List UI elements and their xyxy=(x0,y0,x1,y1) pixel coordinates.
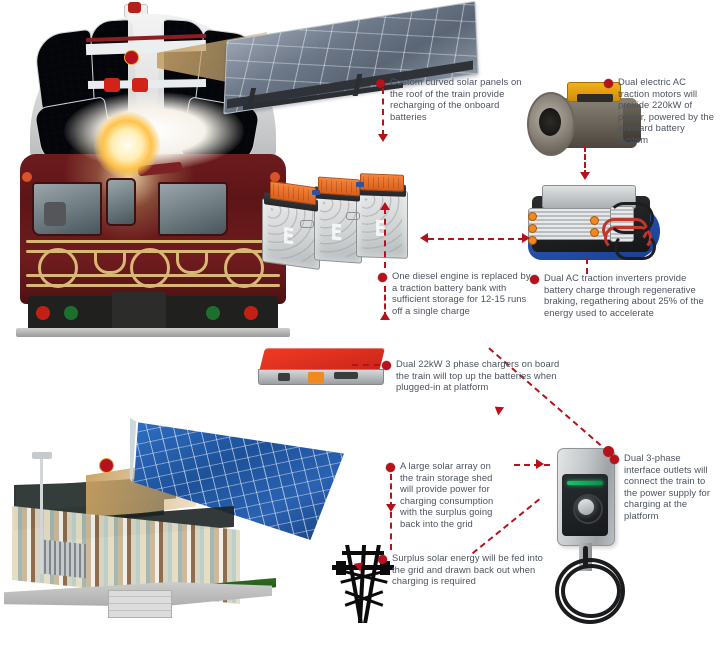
roof-beacon-light xyxy=(128,2,141,13)
infographic-canvas: E E E xyxy=(0,0,720,655)
callout-text: Surplus solar energy will be fed into th… xyxy=(392,552,546,587)
connector-arrow-down xyxy=(580,172,590,180)
buffer-light-red xyxy=(244,306,258,320)
connector-arrow-up xyxy=(380,202,390,210)
battery-connector xyxy=(356,182,364,187)
motor-shaft-bore xyxy=(539,108,561,136)
callout-text: Dual AC traction inverters provide batte… xyxy=(544,272,716,318)
callout-grid-feed: Surplus solar energy will be fed into th… xyxy=(378,552,546,587)
battery-control-unit xyxy=(318,177,360,197)
storage-shed-illustration xyxy=(4,414,334,642)
track-rail xyxy=(16,328,290,337)
driver-silhouette xyxy=(44,202,66,226)
socket-connector xyxy=(578,499,594,515)
callout-bullet xyxy=(376,79,385,88)
roof-marker-light xyxy=(104,78,120,92)
status-led-strip xyxy=(567,481,603,485)
battery-module: E xyxy=(356,189,408,259)
cab-window-right xyxy=(158,182,228,236)
buffer-light-red xyxy=(36,306,50,320)
callout-text: Dual electric AC traction motors will pr… xyxy=(618,76,716,146)
callout-dot-roof-solar[interactable] xyxy=(124,50,139,65)
callout-dot-charging-station[interactable] xyxy=(603,446,614,457)
callout-bullet xyxy=(382,361,391,370)
battery-control-unit xyxy=(360,173,404,192)
callout-bullet xyxy=(386,463,395,472)
battery-connector xyxy=(312,190,320,195)
inverter-terminal xyxy=(590,228,599,237)
charger-port xyxy=(278,373,290,381)
livery-ring xyxy=(38,248,78,288)
charging-cable xyxy=(561,564,621,618)
buffer-light-green xyxy=(64,306,78,320)
platform-base-wall xyxy=(108,590,172,618)
shed-light-pole xyxy=(40,454,43,574)
connector-battery-callout xyxy=(384,208,386,268)
connector-charger-callout xyxy=(352,364,380,366)
inverter-ground-cable xyxy=(608,202,654,234)
callout-bullet xyxy=(530,275,539,284)
callout-text: A large solar array on the train storage… xyxy=(400,460,500,530)
connector-arrow-left xyxy=(420,233,428,243)
callout-bullet xyxy=(378,555,387,564)
charger-port xyxy=(334,372,358,379)
traction-inverter-illustration xyxy=(524,180,664,262)
callout-inverters: Dual AC traction inverters provide batte… xyxy=(530,272,716,318)
roof-marker-light xyxy=(132,78,148,92)
cab-window-left xyxy=(32,182,102,236)
livery-ring xyxy=(224,248,264,288)
inverter-terminal xyxy=(528,224,537,233)
onboard-charger-illustration xyxy=(256,348,384,390)
callout-solar-roof: Custom curved solar panels on the roof o… xyxy=(376,76,522,122)
side-marker-light xyxy=(22,172,32,182)
connector-arrow-right xyxy=(536,459,544,469)
connector-battery-inverter xyxy=(428,238,524,240)
inverter-terminal xyxy=(528,212,537,221)
connector-arrow-down xyxy=(378,134,388,142)
callout-bullet xyxy=(610,455,619,464)
callout-text: One diesel engine is replaced by a tract… xyxy=(392,270,536,316)
connector-arrow-right xyxy=(522,233,530,243)
callout-shed-solar-array: A large solar array on the train storage… xyxy=(386,460,500,530)
callout-battery-bank: One diesel engine is replaced by a tract… xyxy=(378,270,536,316)
livery-motif xyxy=(94,250,126,274)
callout-dot-shed-solar[interactable] xyxy=(99,458,114,473)
inverter-terminal xyxy=(590,216,599,225)
callout-bullet xyxy=(378,273,387,282)
shed-light-head xyxy=(32,452,52,459)
shed-gate xyxy=(44,540,86,578)
buffer-light-green xyxy=(206,306,220,320)
connector-shed-station xyxy=(514,464,550,466)
callout-onboard-chargers: Dual 22kW 3 phase chargers on board the … xyxy=(382,358,560,393)
cable-down-lead xyxy=(583,546,588,568)
battery-module: E xyxy=(314,192,362,263)
battery-handle xyxy=(346,212,360,220)
livery-stripe xyxy=(26,240,280,243)
callout-text: Dual 22kW 3 phase chargers on board the … xyxy=(396,358,560,393)
callout-interface-outlets: Dual 3-phase interface outlets will conn… xyxy=(610,452,714,522)
livery-ring xyxy=(130,248,170,288)
callout-bullet xyxy=(604,79,613,88)
callout-text: Custom curved solar panels on the roof o… xyxy=(390,76,522,122)
livery-motif xyxy=(176,250,208,274)
callout-traction-motors: Dual electric AC traction motors will pr… xyxy=(604,76,716,146)
cab-window-center xyxy=(106,178,136,226)
battery-handle xyxy=(300,220,314,228)
charger-connector xyxy=(308,372,324,383)
connector-arrow-diag xyxy=(492,403,504,416)
inverter-ground-cable xyxy=(614,234,656,260)
callout-text: Dual 3-phase interface outlets will conn… xyxy=(624,452,714,522)
headlight xyxy=(94,112,160,178)
